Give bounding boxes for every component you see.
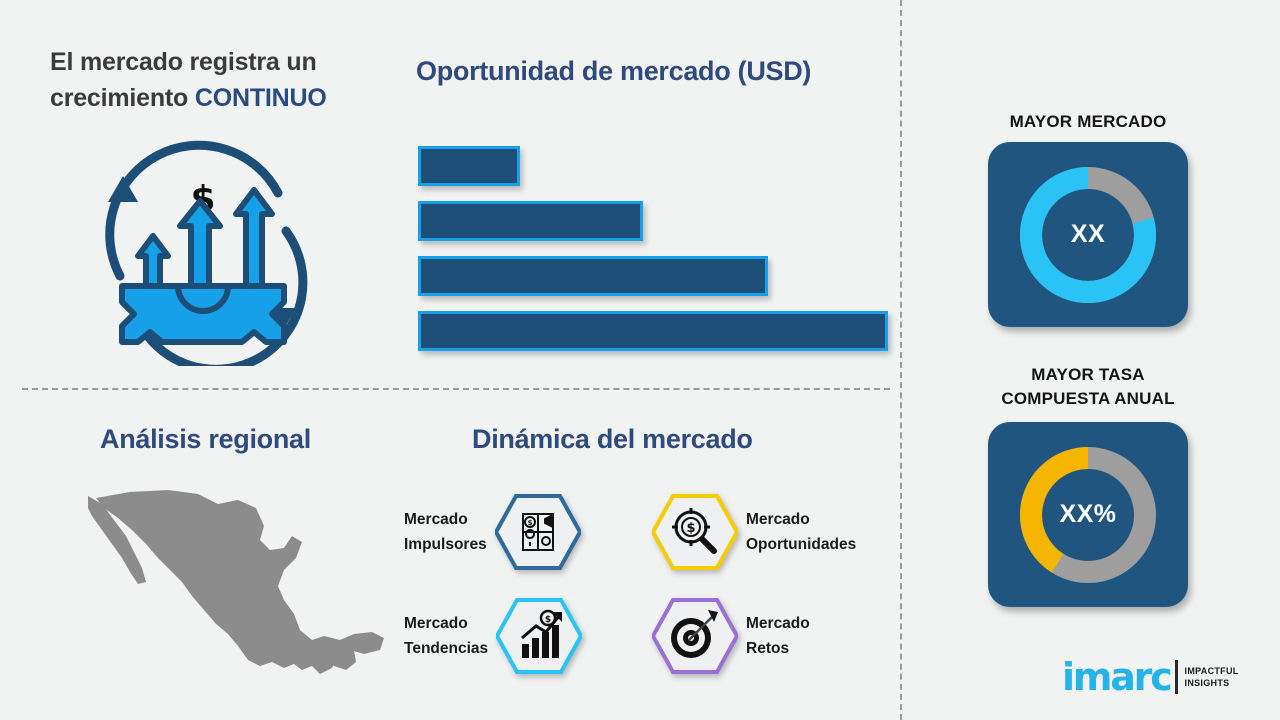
dynamics-item-opportunities[interactable]: $ Mercado Oportunidades (652, 494, 856, 570)
donut-card-highest-cagr: XX% (988, 422, 1188, 607)
dynamics-item-trends[interactable]: Mercado Tendencias $ (404, 598, 582, 674)
donut-title-highest-cagr: MAYOR TASA COMPUESTA ANUAL (968, 363, 1208, 411)
market-opportunity-bar-chart (418, 146, 888, 351)
logo-separator (1175, 660, 1178, 694)
imarc-tagline: IMPACTFUL INSIGHTS (1185, 665, 1239, 689)
donut-value-largest-market: XX (988, 142, 1188, 327)
growth-gear-arrows-icon: $ (78, 136, 328, 366)
mexico-map (88, 478, 388, 693)
growth-headline-line2-prefix: crecimiento (50, 84, 195, 112)
growth-headline: El mercado registra un crecimiento CONTI… (50, 45, 400, 116)
dynamics-item-challenges[interactable]: Mercado Retos (652, 598, 810, 674)
svg-text:$: $ (686, 521, 695, 536)
growth-headline-accent: CONTINUO (195, 84, 327, 112)
imarc-wordmark: imarc (1062, 658, 1171, 696)
dynamics-title: Dinámica del mercado (472, 424, 753, 455)
dynamics-item-drivers[interactable]: Mercado Impulsores $ (404, 494, 581, 570)
growth-headline-line1: El mercado registra un (50, 48, 317, 76)
donut-value-highest-cagr: XX% (988, 422, 1188, 607)
horizontal-divider (22, 388, 890, 390)
infographic-canvas: El mercado registra un crecimiento CONTI… (0, 0, 1280, 720)
bar-3 (418, 256, 768, 296)
trends-growth-chart-icon: $ (496, 598, 582, 674)
opportunities-search-icon: $ (652, 494, 738, 570)
bar-4 (418, 311, 888, 351)
bar-1 (418, 146, 520, 186)
vertical-divider (900, 0, 902, 720)
donut-title-largest-market: MAYOR MERCADO (968, 110, 1208, 134)
svg-text:$: $ (527, 519, 532, 527)
dynamics-label-trends: Mercado Tendencias (404, 611, 488, 661)
dynamics-label-opportunities: Mercado Oportunidades (746, 507, 856, 557)
drivers-puzzle-icon: $ (495, 494, 581, 570)
dynamics-label-drivers: Mercado Impulsores (404, 507, 487, 557)
imarc-logo: imarc IMPACTFUL INSIGHTS (1062, 658, 1239, 696)
bar-2 (418, 201, 643, 241)
opportunity-title: Oportunidad de mercado (USD) (416, 56, 811, 87)
regional-title: Análisis regional (100, 424, 311, 455)
challenges-target-icon (652, 598, 738, 674)
svg-text:$: $ (545, 615, 551, 625)
dynamics-label-challenges: Mercado Retos (746, 611, 810, 661)
donut-card-largest-market: XX (988, 142, 1188, 327)
